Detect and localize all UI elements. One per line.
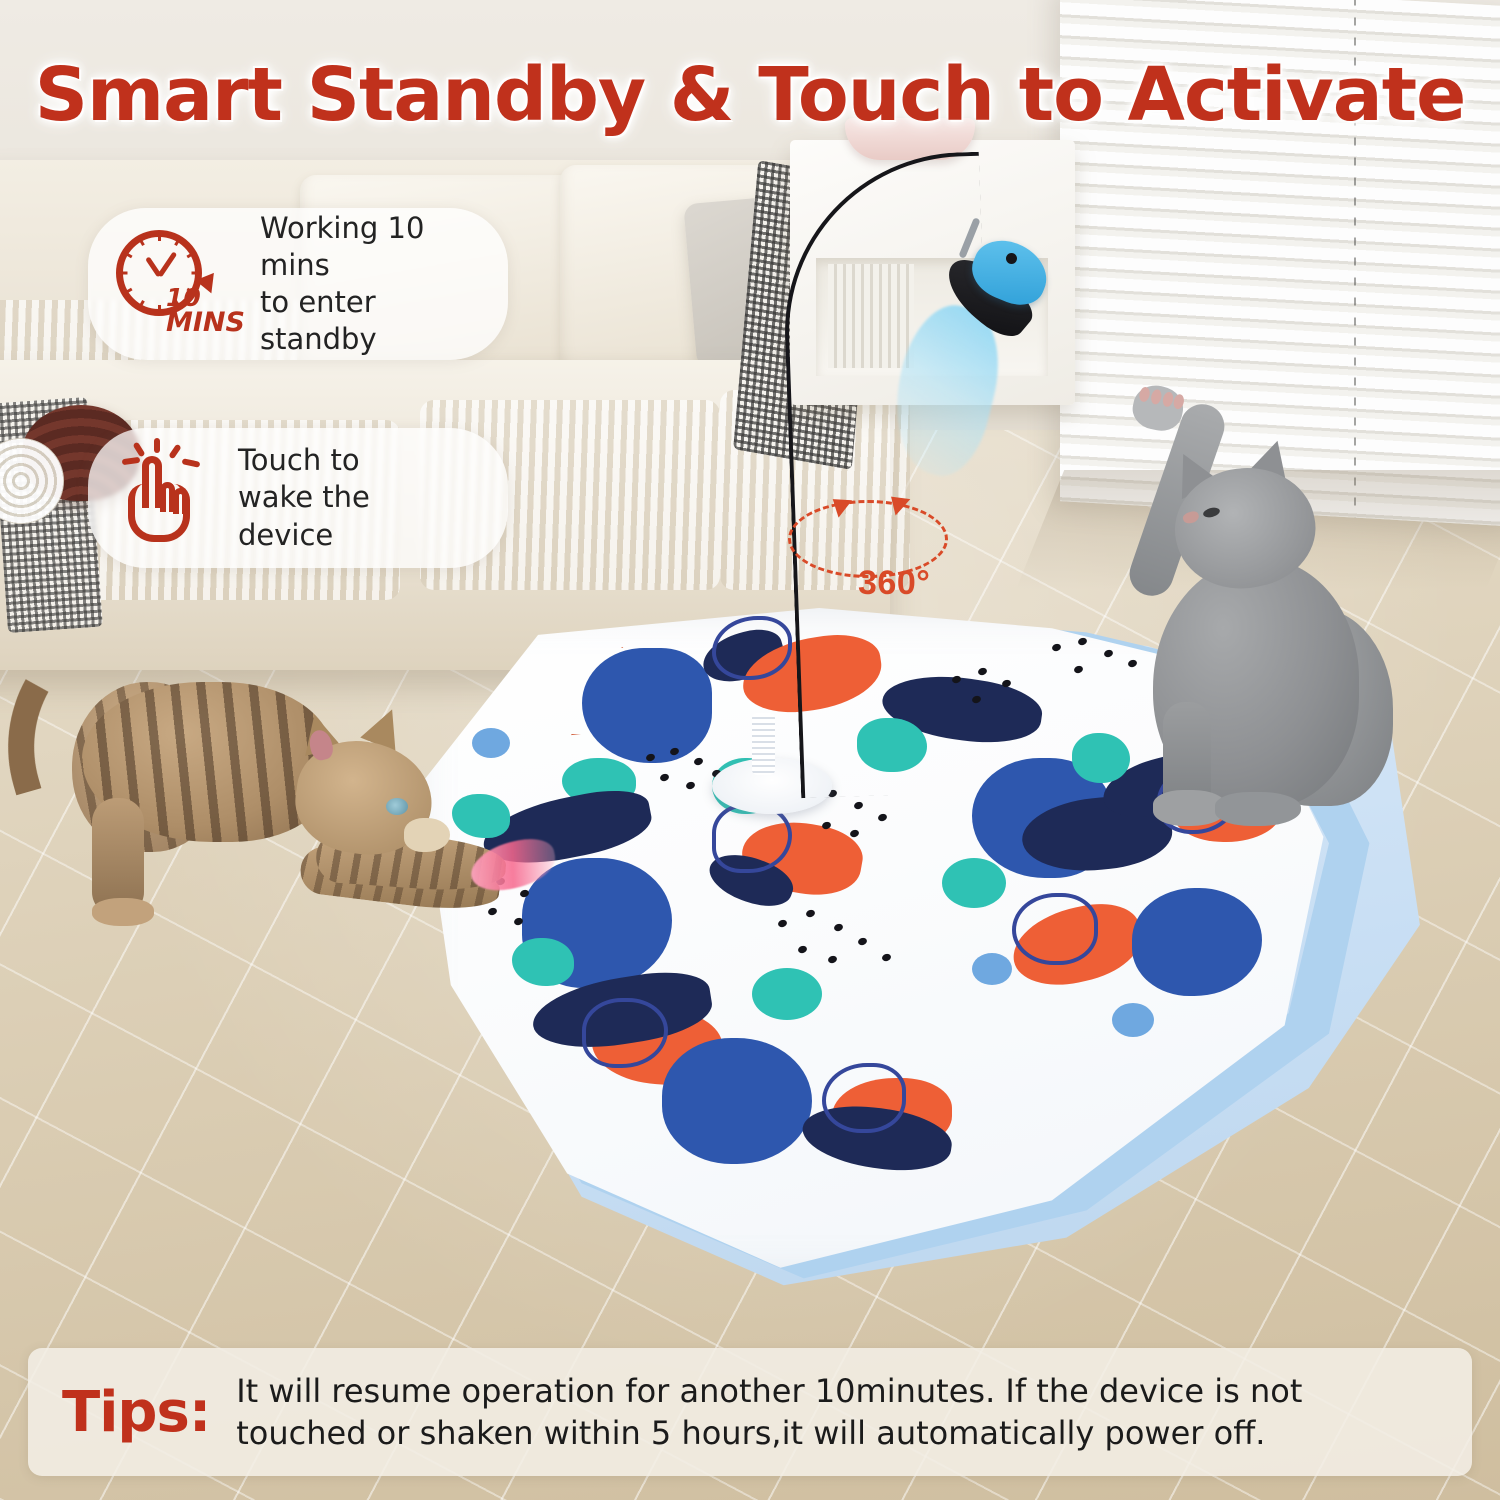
feature-badge-touch: Touch to wake the device bbox=[88, 428, 508, 568]
tabby-kitten-muzzle bbox=[404, 818, 450, 852]
tap-ray bbox=[132, 442, 145, 458]
tabby-kitten bbox=[0, 630, 560, 940]
tap-hand-icon bbox=[110, 442, 220, 554]
mat-shape-dot-blue bbox=[1112, 1003, 1154, 1037]
tabby-kitten-eye bbox=[386, 798, 408, 815]
tap-hand-palm bbox=[128, 484, 190, 542]
tips-line1: It will resume operation for another 10m… bbox=[236, 1370, 1302, 1412]
clock-tick bbox=[158, 232, 161, 241]
mat-shape-dot-blue bbox=[972, 953, 1012, 985]
tips-label: Tips: bbox=[62, 1380, 210, 1445]
clock-duration-label: 10 MINS bbox=[166, 286, 250, 336]
feather-wand-toy bbox=[790, 155, 1010, 795]
clock-tick bbox=[192, 272, 201, 275]
bird-eye bbox=[1006, 253, 1017, 264]
feature-badge-standby: 10 MINS Working 10 mins to enter standby bbox=[88, 208, 508, 360]
tips-line2: touched or shaken within 5 hours,it will… bbox=[236, 1412, 1302, 1454]
rotation-label: 360° bbox=[858, 564, 930, 603]
rotation-annotation: 360° bbox=[780, 492, 980, 612]
tap-ray bbox=[154, 438, 160, 453]
motor-neck bbox=[752, 713, 775, 775]
mat-squiggle-outline bbox=[822, 1063, 906, 1133]
grey-kitten bbox=[1075, 372, 1395, 842]
mat-squiggle-outline bbox=[1012, 893, 1098, 965]
clock-icon: 10 MINS bbox=[110, 228, 242, 340]
clock-tick bbox=[119, 272, 128, 275]
badge-touch-line2: wake the device bbox=[238, 479, 474, 553]
grey-kitten-paw bbox=[1215, 792, 1301, 826]
badge-standby-line2: to enter standby bbox=[260, 284, 474, 358]
badge-standby-text: Working 10 mins to enter standby bbox=[260, 210, 474, 358]
badge-touch-line1: Touch to bbox=[238, 442, 474, 479]
clock-duration-unit: MINS bbox=[166, 310, 250, 336]
tips-banner: Tips: It will resume operation for anoth… bbox=[28, 1348, 1472, 1476]
badge-standby-line1: Working 10 mins bbox=[260, 210, 474, 284]
tap-ray bbox=[182, 458, 201, 468]
tips-body: It will resume operation for another 10m… bbox=[236, 1370, 1302, 1454]
clock-tick bbox=[158, 305, 161, 314]
tap-ray bbox=[122, 457, 141, 465]
page-title: Smart Standby & Touch to Activate bbox=[0, 52, 1500, 138]
badge-touch-text: Touch to wake the device bbox=[238, 442, 474, 553]
tabby-kitten-hind-paw bbox=[92, 898, 154, 926]
mat-dot-cluster bbox=[772, 908, 922, 994]
tap-ray bbox=[168, 444, 181, 460]
